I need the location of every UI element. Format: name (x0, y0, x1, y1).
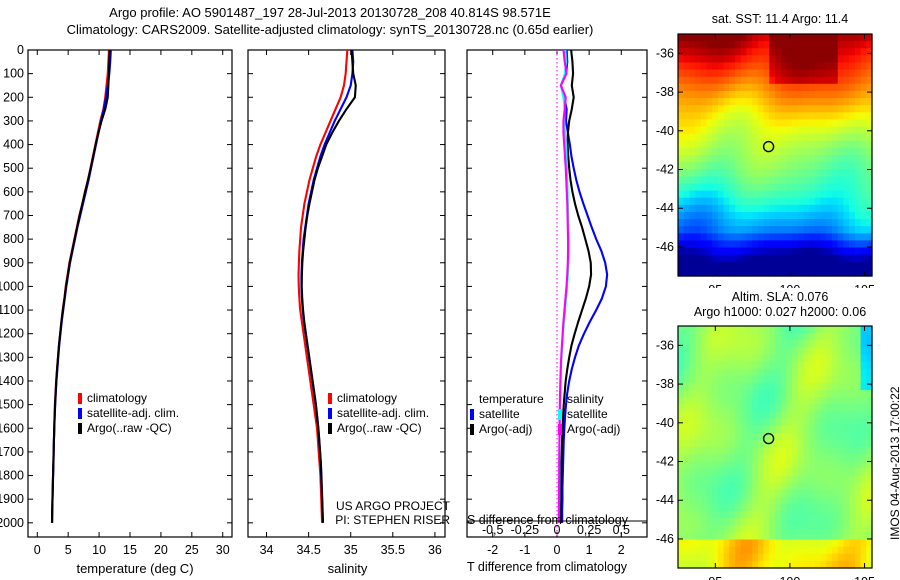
map-cell (798, 212, 804, 220)
map-cell (729, 376, 735, 384)
map-cell (861, 411, 867, 419)
map-cell (752, 233, 758, 241)
map-cell (843, 112, 849, 120)
map-cell (701, 461, 707, 469)
map-cell (792, 48, 798, 56)
map-cell (843, 191, 849, 199)
map-cell (843, 141, 849, 149)
map-cell (826, 369, 832, 377)
map-cell (821, 426, 827, 434)
map-cell (809, 162, 815, 170)
map-cell (792, 98, 798, 106)
map-cell (798, 362, 804, 370)
map-cell (826, 226, 832, 234)
salinity-plot: 3434.53535.536 (240, 0, 465, 580)
map-cell (724, 447, 730, 455)
map-cell (718, 440, 724, 448)
map-cell (764, 347, 770, 355)
map-cell (741, 41, 747, 49)
map-cell (695, 475, 701, 483)
map-cell (855, 169, 861, 177)
map-cell (849, 461, 855, 469)
legend-swatch-temp-satellite (470, 409, 474, 420)
map-cell (843, 91, 849, 99)
map-cell (707, 426, 713, 434)
map-cell (707, 411, 713, 419)
map-cell (843, 127, 849, 135)
map-cell (701, 191, 707, 199)
map-cell (718, 141, 724, 149)
map-cell (832, 404, 838, 412)
map-cell (712, 511, 718, 519)
map-cell (724, 169, 730, 177)
panel-salinity: 3434.53535.536 (240, 0, 465, 580)
map-cell (769, 518, 775, 526)
map-cell (832, 461, 838, 469)
map-cell (821, 347, 827, 355)
map-cell (781, 148, 787, 156)
map-cell (678, 333, 684, 341)
map-cell (684, 41, 690, 49)
map-cell (809, 475, 815, 483)
credits-line2: PI: STEPHEN RISER (290, 513, 450, 527)
map-cell (786, 162, 792, 170)
map-cell (804, 262, 810, 270)
x-tick-label: 25 (185, 543, 199, 557)
map-cell (741, 226, 747, 234)
map-cell (775, 248, 781, 256)
map-cell (741, 419, 747, 427)
map-cell (741, 504, 747, 512)
map-cell (861, 419, 867, 427)
map-cell (689, 404, 695, 412)
map-cell (695, 219, 701, 227)
map-cell (707, 554, 713, 562)
map-cell (798, 326, 804, 334)
map-cell (695, 141, 701, 149)
map-cell (821, 468, 827, 476)
map-cell (695, 411, 701, 419)
map-cell (855, 525, 861, 533)
map-cell (855, 148, 861, 156)
map-cell (786, 433, 792, 441)
map-cell (735, 426, 741, 434)
map-cell (804, 119, 810, 127)
map-cell (861, 112, 867, 120)
map-cell (695, 540, 701, 548)
map-cell (712, 148, 718, 156)
map-cell (798, 433, 804, 441)
map-cell (826, 390, 832, 398)
map-cell (729, 547, 735, 555)
map-cell (792, 525, 798, 533)
map-cell (804, 333, 810, 341)
map-cell (838, 468, 844, 476)
map-cell (758, 34, 764, 42)
map-cell (689, 461, 695, 469)
map-cell (724, 98, 730, 106)
map-cell (838, 176, 844, 184)
map-cell (712, 212, 718, 220)
map-cell (804, 518, 810, 526)
map-cell (815, 105, 821, 113)
map-cell (849, 34, 855, 42)
map-cell (843, 475, 849, 483)
map-cell (809, 176, 815, 184)
map-cell (758, 411, 764, 419)
map-cell (786, 340, 792, 348)
map-cell (689, 91, 695, 99)
legend-item: climatology (328, 391, 429, 406)
map-cell (769, 547, 775, 555)
map-cell (741, 404, 747, 412)
map-cell (678, 326, 684, 334)
map-cell (809, 326, 815, 334)
map-cell (712, 461, 718, 469)
map-cell (849, 433, 855, 441)
map-cell (689, 369, 695, 377)
map-cell (729, 219, 735, 227)
map-cell (843, 333, 849, 341)
map-cell (718, 119, 724, 127)
map-cell (781, 62, 787, 70)
depth-tick-label: 2000 (0, 516, 24, 530)
map-cell (729, 212, 735, 220)
depth-tick-label: 200 (3, 90, 24, 104)
map-cell (678, 169, 684, 177)
map-cell (707, 390, 713, 398)
map-cell (729, 490, 735, 498)
map-cell (678, 162, 684, 170)
map-cell (695, 390, 701, 398)
map-cell (838, 134, 844, 142)
map-cell (821, 504, 827, 512)
map-cell (695, 233, 701, 241)
map-cell (724, 262, 730, 270)
map-cell (735, 540, 741, 548)
map-cell (752, 98, 758, 106)
map-cell (838, 362, 844, 370)
map-cell (809, 255, 815, 263)
map-cell (826, 112, 832, 120)
map-cell (821, 525, 827, 533)
map-cell (764, 404, 770, 412)
map-cell (769, 219, 775, 227)
map-cell (781, 176, 787, 184)
map-cell (718, 404, 724, 412)
map-cell (792, 198, 798, 206)
map-cell (832, 91, 838, 99)
map-cell (838, 205, 844, 213)
map-cell (843, 369, 849, 377)
map-cell (838, 191, 844, 199)
map-cell (798, 77, 804, 85)
map-cell (821, 134, 827, 142)
map-cell (769, 169, 775, 177)
map-cell (861, 248, 867, 256)
map-cell (707, 198, 713, 206)
map-cell (684, 426, 690, 434)
map-cell (786, 48, 792, 56)
map-cell (792, 248, 798, 256)
map-cell (838, 440, 844, 448)
map-cell (678, 554, 684, 562)
map-cell (735, 148, 741, 156)
map-cell (718, 70, 724, 78)
map-cell (712, 98, 718, 106)
map-cell (786, 212, 792, 220)
map-cell (712, 397, 718, 405)
map-cell (735, 354, 741, 362)
map-cell (746, 383, 752, 391)
map-cell (804, 354, 810, 362)
map-cell (832, 148, 838, 156)
map-cell (712, 55, 718, 63)
x-tick-label: -2 (487, 543, 498, 557)
map-cell (855, 369, 861, 377)
map-cell (826, 127, 832, 135)
map-cell (832, 183, 838, 191)
map-cell (798, 461, 804, 469)
map-cell (735, 504, 741, 512)
map-cell (804, 440, 810, 448)
map-cell (781, 105, 787, 113)
map-cell (724, 105, 730, 113)
map-cell (758, 511, 764, 519)
map-cell (815, 397, 821, 405)
map-cell (769, 326, 775, 334)
map-cell (849, 240, 855, 248)
map-cell (792, 240, 798, 248)
map-cell (821, 48, 827, 56)
map-cell (678, 468, 684, 476)
map-cell (798, 41, 804, 49)
map-cell (804, 205, 810, 213)
map-cell (815, 41, 821, 49)
map-cell (821, 461, 827, 469)
map-cell (809, 440, 815, 448)
map-cell (798, 169, 804, 177)
map-cell (775, 127, 781, 135)
map-cell (849, 77, 855, 85)
map-cell (701, 219, 707, 227)
map-cell (849, 134, 855, 142)
map-cell (758, 248, 764, 256)
map-cell (695, 134, 701, 142)
map-cell (735, 112, 741, 120)
map-cell (861, 326, 867, 334)
map-cell (707, 404, 713, 412)
map-cell (826, 55, 832, 63)
map-cell (775, 148, 781, 156)
map-cell (695, 340, 701, 348)
map-cell (849, 397, 855, 405)
map-cell (781, 547, 787, 555)
map-cell (781, 461, 787, 469)
map-cell (695, 34, 701, 42)
map-cell (712, 248, 718, 256)
x-tick-label: 15 (123, 543, 137, 557)
map-cell (712, 240, 718, 248)
map-cell (804, 497, 810, 505)
map-cell (804, 532, 810, 540)
map-cell (849, 440, 855, 448)
map-cell (798, 497, 804, 505)
map-cell (684, 390, 690, 398)
map-cell (718, 91, 724, 99)
map-cell (781, 376, 787, 384)
map-cell (758, 176, 764, 184)
map-cell (764, 162, 770, 170)
map-cell (724, 226, 730, 234)
map-cell (855, 504, 861, 512)
map-cell (832, 511, 838, 519)
map-y-tick-label: -44 (656, 493, 674, 507)
map-cell (707, 497, 713, 505)
map-cell (855, 347, 861, 355)
map-cell (718, 532, 724, 540)
map-cell (701, 148, 707, 156)
map-cell (815, 226, 821, 234)
map-cell (815, 176, 821, 184)
map-cell (707, 248, 713, 256)
map-cell (729, 183, 735, 191)
map-cell (689, 532, 695, 540)
map-cell (855, 105, 861, 113)
map-cell (769, 554, 775, 562)
map-cell (701, 119, 707, 127)
map-cell (758, 183, 764, 191)
map-cell (838, 233, 844, 241)
map-cell (849, 411, 855, 419)
map-cell (689, 119, 695, 127)
map-cell (746, 248, 752, 256)
map-cell (804, 162, 810, 170)
map-cell (815, 326, 821, 334)
map-cell (764, 205, 770, 213)
map-cell (724, 433, 730, 441)
map-cell (729, 162, 735, 170)
map-cell (707, 98, 713, 106)
map-cell (809, 369, 815, 377)
x-tick-label: 2 (618, 543, 625, 557)
map-cell (701, 262, 707, 270)
map-cell (855, 404, 861, 412)
map-cell (815, 547, 821, 555)
map-cell (849, 41, 855, 49)
map-cell (821, 119, 827, 127)
map-cell (707, 454, 713, 462)
map-cell (718, 240, 724, 248)
map-cell (798, 490, 804, 498)
map-cell (769, 347, 775, 355)
map-cell (826, 219, 832, 227)
map-cell (855, 112, 861, 120)
legend-header-salinity: salinity (558, 392, 646, 407)
map-cell (758, 91, 764, 99)
map-cell (832, 454, 838, 462)
map-cell (764, 540, 770, 548)
map-cell (786, 141, 792, 149)
map-cell (741, 183, 747, 191)
map-cell (684, 105, 690, 113)
map-cell (849, 233, 855, 241)
map-cell (707, 233, 713, 241)
map-cell (826, 41, 832, 49)
map-cell (855, 333, 861, 341)
map-cell (701, 233, 707, 241)
map-cell (718, 411, 724, 419)
map-cell (769, 119, 775, 127)
map-cell (684, 240, 690, 248)
map-cell (678, 525, 684, 533)
map-cell (855, 440, 861, 448)
map-cell (707, 525, 713, 533)
map-cell (752, 390, 758, 398)
map-cell (826, 176, 832, 184)
map-cell (832, 362, 838, 370)
map-cell (804, 155, 810, 163)
map-cell (855, 383, 861, 391)
map-cell (832, 162, 838, 170)
map-cell (809, 198, 815, 206)
map-cell (752, 105, 758, 113)
map-cell (735, 262, 741, 270)
map-cell (798, 383, 804, 391)
map-cell (804, 134, 810, 142)
map-cell (701, 540, 707, 548)
map-cell (809, 119, 815, 127)
map-cell (724, 240, 730, 248)
map-cell (724, 183, 730, 191)
map-cell (724, 55, 730, 63)
map-cell (746, 84, 752, 92)
map-cell (843, 347, 849, 355)
map-cell (838, 155, 844, 163)
map-cell (746, 454, 752, 462)
map-cell (832, 127, 838, 135)
map-cell (832, 376, 838, 384)
map-cell (861, 525, 867, 533)
map-cell (729, 155, 735, 163)
depth-tick-label: 1100 (0, 303, 24, 317)
map-cell (695, 490, 701, 498)
map-cell (798, 155, 804, 163)
map-cell (729, 48, 735, 56)
map-cell (821, 411, 827, 419)
map-cell (678, 70, 684, 78)
map-cell (746, 134, 752, 142)
map-cell (701, 433, 707, 441)
map-cell (729, 404, 735, 412)
map-cell (746, 397, 752, 405)
map-y-tick-label: -42 (656, 163, 674, 177)
map-cell (758, 148, 764, 156)
map-cell (724, 112, 730, 120)
map-cell (741, 233, 747, 241)
map-cell (689, 240, 695, 248)
map-cell (678, 255, 684, 263)
map-cell (804, 376, 810, 384)
map-cell (707, 433, 713, 441)
map-cell (718, 198, 724, 206)
map-cell (769, 91, 775, 99)
map-cell (855, 376, 861, 384)
map-y-tick-label: -42 (656, 455, 674, 469)
map-cell (804, 326, 810, 334)
map-cell (752, 475, 758, 483)
map-cell (826, 547, 832, 555)
